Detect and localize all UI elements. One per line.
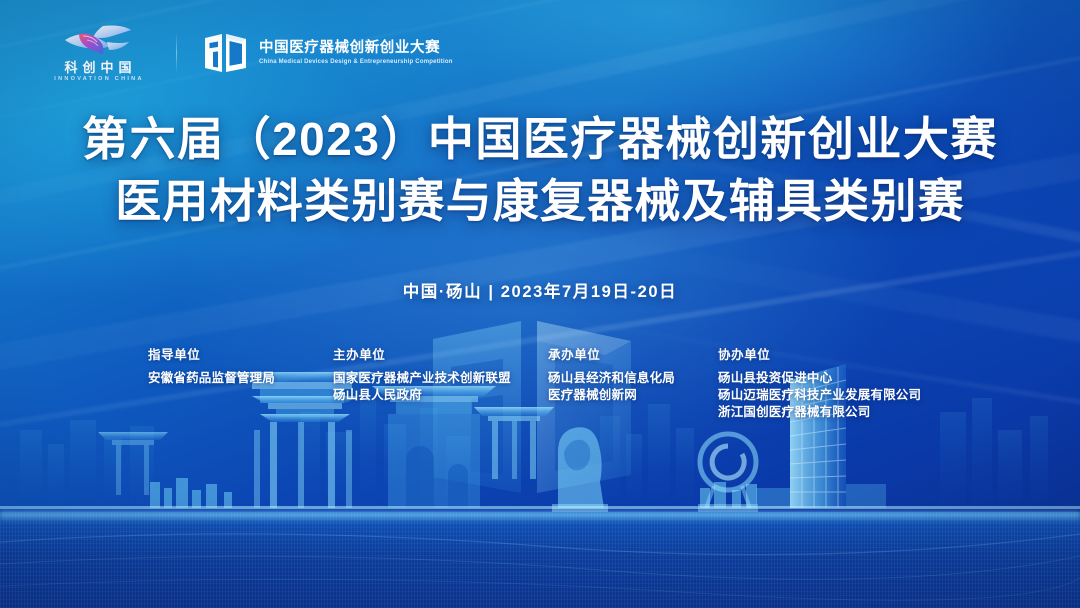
innovation-china-cn-label: 科创中国	[59, 61, 136, 74]
stone-sculpture	[552, 427, 608, 512]
title-line-2: 医用材料类别赛与康复器械及辅具类别赛	[0, 170, 1080, 232]
circular-monument	[698, 434, 758, 512]
header-logo-group: 科创中国 INNOVATION CHINA 中国医疗器械创新创业大赛 China…	[46, 24, 453, 83]
organizer-item: 砀山迈瑞医疗科技产业发展有限公司	[718, 387, 978, 404]
organizer-column-coorganizer: 协办单位 砀山县投资促进中心 砀山迈瑞医疗科技产业发展有限公司 浙江国创医疗器械…	[718, 344, 978, 421]
title-block: 第六届（2023）中国医疗器械创新创业大赛 医用材料类别赛与康复器械及辅具类别赛	[0, 108, 1080, 232]
organizer-item: 浙江国创医疗器械有限公司	[718, 404, 978, 421]
organizer-item: 砀山县经济和信息化局	[548, 370, 718, 387]
organizer-column-undertaker: 承办单位 砀山县经济和信息化局 医疗器械创新网	[548, 344, 718, 404]
small-gate	[98, 432, 168, 495]
organizer-heading: 承办单位	[548, 344, 718, 363]
organizer-item: 国家医疗器械产业技术创新联盟	[333, 370, 548, 387]
organizer-column-host: 主办单位 国家医疗器械产业技术创新联盟 砀山县人民政府	[333, 344, 548, 404]
banner-stage: 科创中国 INNOVATION CHINA 中国医疗器械创新创业大赛 China…	[0, 0, 1080, 608]
title-line-1: 第六届（2023）中国医疗器械创新创业大赛	[0, 108, 1080, 170]
organizer-item: 砀山县人民政府	[333, 387, 548, 404]
organizer-heading: 指导单位	[148, 344, 333, 363]
open-door-mark-icon	[203, 30, 249, 76]
event-location-date: 中国·砀山 | 2023年7月19日-20日	[0, 278, 1080, 302]
innovation-china-en-label: INNOVATION CHINA	[52, 77, 143, 83]
organizer-heading: 主办单位	[333, 344, 548, 363]
organizer-item: 医疗器械创新网	[548, 387, 718, 404]
innovation-china-logo: 科创中国 INNOVATION CHINA	[46, 24, 150, 83]
light-streak	[0, 0, 1080, 1]
water-wave-lines	[0, 512, 1080, 608]
phoenix-bird-emblem-icon	[63, 24, 133, 58]
organizer-column-guidance: 指导单位 安徽省药品监督管理局	[148, 344, 333, 387]
organizer-heading: 协办单位	[718, 344, 978, 363]
organizer-item: 砀山县投资促进中心	[718, 370, 978, 387]
competition-cn-label: 中国医疗器械创新创业大赛	[259, 40, 453, 57]
organizer-columns: 指导单位 安徽省药品监督管理局 主办单位 国家医疗器械产业技术创新联盟 砀山县人…	[148, 344, 978, 421]
logo-divider	[176, 33, 177, 73]
competition-en-label: China Medical Devices Design & Entrepren…	[259, 59, 453, 66]
competition-logo: 中国医疗器械创新创业大赛 China Medical Devices Desig…	[203, 30, 453, 76]
organizer-item: 安徽省药品监督管理局	[148, 370, 333, 387]
